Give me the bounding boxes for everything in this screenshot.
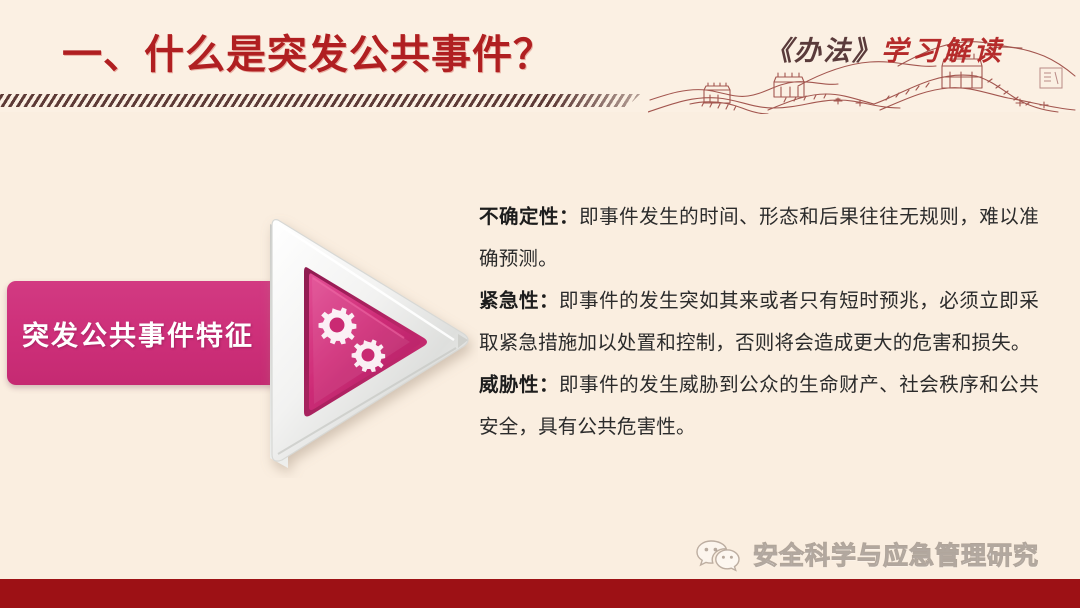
decorative-bracket-text: 《办法》	[765, 36, 881, 66]
watermark-label: 安全科学与应急管理研究	[753, 536, 1039, 572]
play-triangle-gears-icon	[258, 206, 478, 478]
paragraph-uncertainty: 不确定性：即事件发生的时间、形态和后果往往无规则，难以准确预测。	[479, 196, 1039, 280]
paragraph-body: 即事件的发生威胁到公众的生命财产、社会秩序和公共安全，具有公共危害性。	[479, 374, 1039, 438]
paragraph-urgency: 紧急性：即事件的发生突如其来或者只有短时预兆，必须立即采取紧急措施加以处置和控制…	[479, 280, 1039, 364]
presentation-slide: 一、什么是突发公共事件？	[0, 0, 1080, 608]
paragraph-lead: 不确定性：	[479, 206, 579, 228]
footer-bar	[0, 579, 1080, 608]
feature-description-block: 不确定性：即事件发生的时间、形态和后果往往无规则，难以准确预测。 紧急性：即事件…	[479, 196, 1039, 448]
hatched-divider	[0, 94, 640, 107]
paragraph-lead: 威胁性：	[479, 374, 559, 396]
page-title: 一、什么是突发公共事件？	[62, 22, 554, 80]
decorative-subtitle: 《办法》学习解读	[765, 29, 1005, 68]
decorative-red-text: 学习解读	[881, 36, 1005, 66]
wechat-icon	[694, 536, 742, 572]
paragraph-threat: 威胁性：即事件的发生威胁到公众的生命财产、社会秩序和公共安全，具有公共危害性。	[479, 364, 1039, 448]
feature-callout-label: 突发公共事件特征	[7, 281, 269, 385]
paragraph-body: 即事件的发生突如其来或者只有短时预兆，必须立即采取紧急措施加以处置和控制，否则将…	[479, 290, 1039, 354]
paragraph-lead: 紧急性：	[479, 290, 559, 312]
slide-header: 一、什么是突发公共事件？	[0, 0, 1080, 112]
channel-watermark: 安全科学与应急管理研究	[694, 531, 1039, 577]
